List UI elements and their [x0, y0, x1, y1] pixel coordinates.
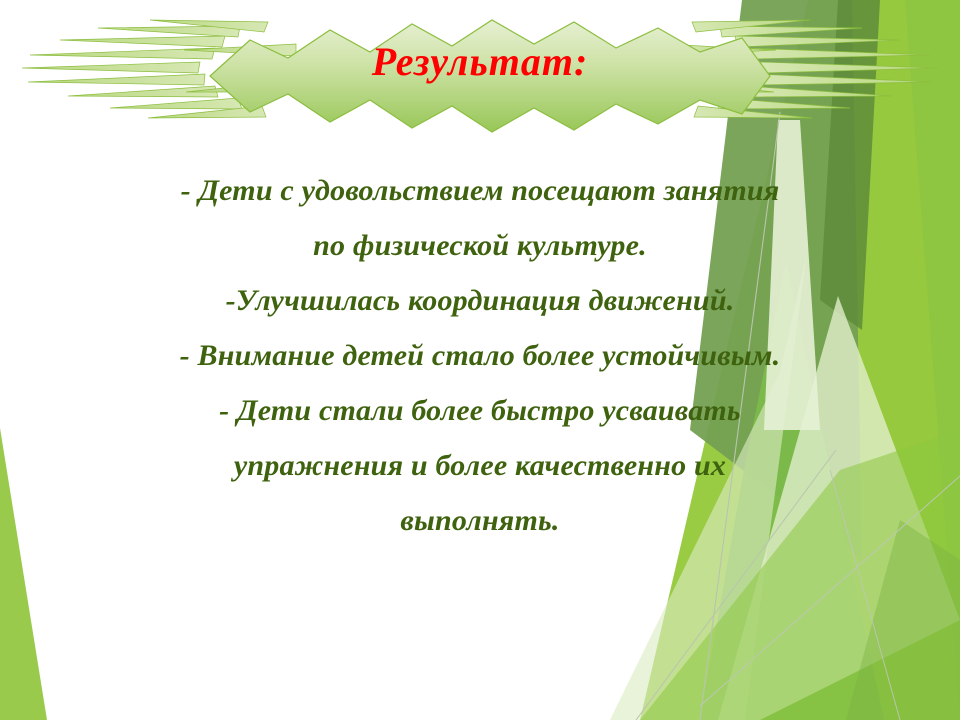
body-line: -Улучшилась координация движений.: [55, 273, 905, 328]
body-line: - Дети с удовольствием посещают занятия: [55, 163, 905, 218]
body-line: по физической культуре.: [55, 218, 905, 273]
body-line: - Дети стали более быстро усваивать: [55, 383, 905, 438]
decor-left-wedge: [0, 428, 47, 720]
body-line: упражнения и более качественно их: [55, 438, 905, 493]
decor-bottom-dark-accent: [846, 520, 960, 720]
slide-body: - Дети с удовольствием посещают занятия …: [55, 163, 905, 548]
body-line: выполнять.: [55, 493, 905, 548]
slide-canvas: Результат: - Дети с удовольствием посеща…: [0, 0, 960, 720]
body-line: - Внимание детей стало более устойчивым.: [55, 328, 905, 383]
slide-title: Результат:: [0, 38, 960, 86]
